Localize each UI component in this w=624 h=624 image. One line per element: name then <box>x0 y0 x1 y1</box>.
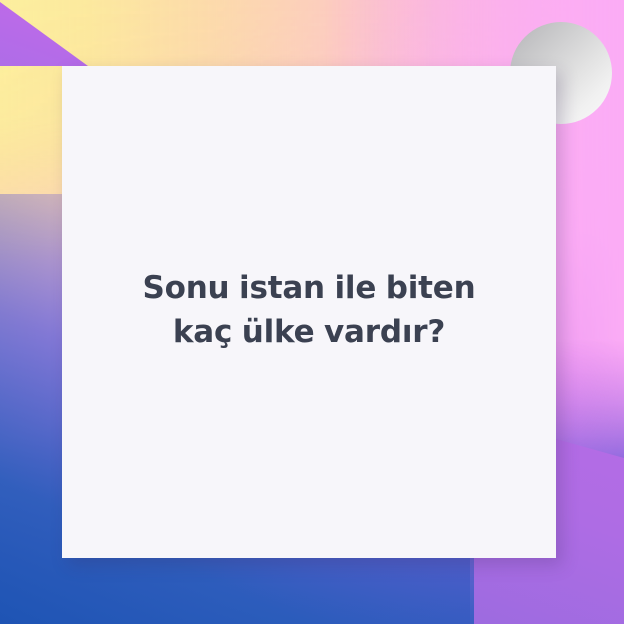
question-text: Sonu istan ile biten kaç ülke vardır? <box>109 266 509 354</box>
question-card: Sonu istan ile biten kaç ülke vardır? <box>62 66 556 558</box>
poster-canvas: Sonu istan ile biten kaç ülke vardır? <box>0 0 624 624</box>
